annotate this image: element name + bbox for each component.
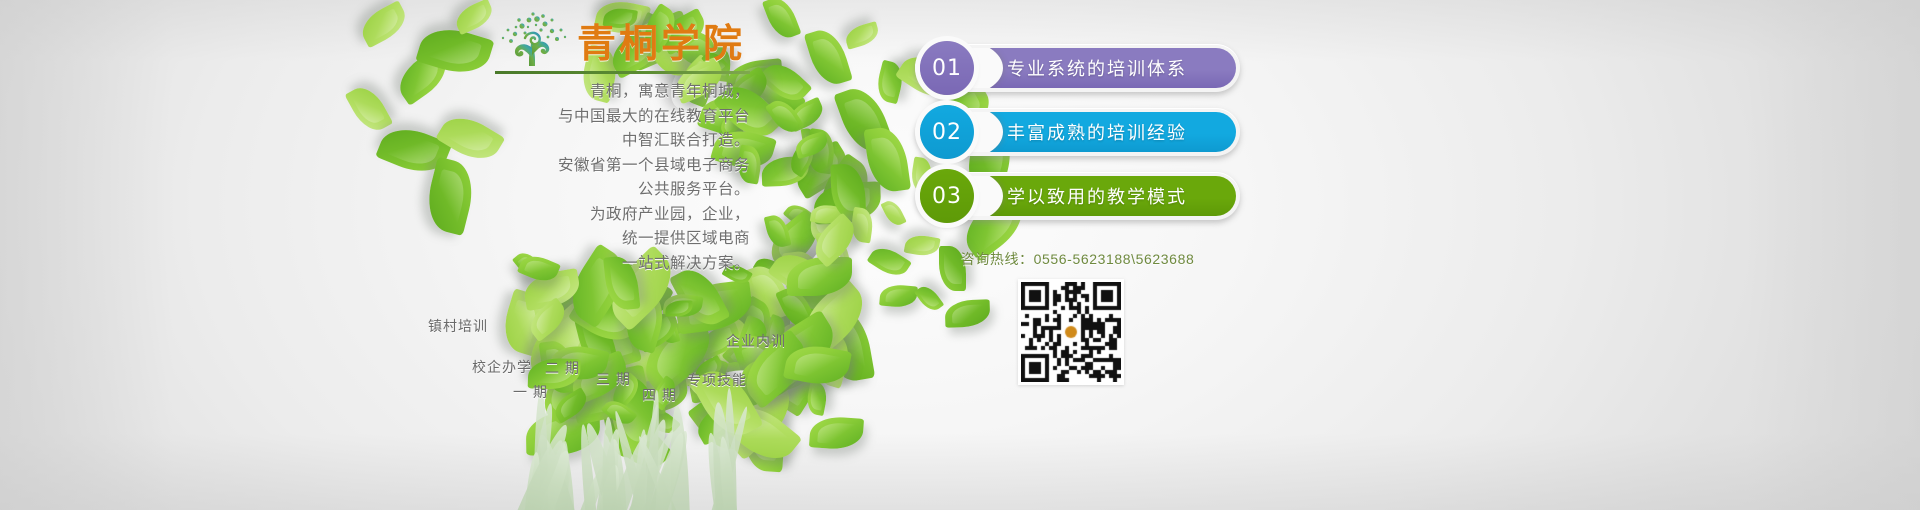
program-tag: 四 期: [642, 385, 677, 405]
description-line: 统一提供区域电商: [430, 227, 750, 252]
description-line: 青桐，寓意青年桐城，: [430, 80, 750, 105]
leaf-icon: [356, 0, 412, 48]
program-tag: 专项技能: [687, 370, 747, 390]
leaf-icon: [843, 21, 881, 50]
description-line: 中智汇联合打造。: [430, 129, 750, 154]
leaf-icon: [804, 25, 853, 89]
program-tag: 校企办学: [472, 357, 532, 377]
description-line: 安徽省第一个县域电子商务: [430, 154, 750, 179]
feature-badge-label: 专业系统的培训体系: [1007, 55, 1187, 81]
feature-badge-label: 丰富成熟的培训经验: [1007, 119, 1187, 145]
brand-description: 青桐，寓意青年桐城，与中国最大的在线教育平台中智汇联合打造。安徽省第一个县域电子…: [430, 80, 750, 276]
leaf-icon: [452, 0, 497, 35]
brand-logo-block: 青桐学院: [495, 6, 750, 74]
feature-badge-03[interactable]: 学以致用的教学模式03: [915, 172, 1240, 220]
description-line: 公共服务平台。: [430, 178, 750, 203]
leaf-icon: [880, 197, 906, 228]
program-tag: 二 期: [545, 358, 580, 378]
feature-badge-number: 02: [920, 105, 974, 159]
leaf-icon: [764, 213, 792, 250]
program-tag: 三 期: [596, 369, 631, 389]
leaf-icon: [945, 299, 991, 328]
feature-badge-number: 03: [920, 169, 974, 223]
leaf-icon: [809, 415, 864, 450]
leaf-icon: [879, 283, 917, 308]
description-line: 为政府产业园，企业，: [430, 203, 750, 228]
leaf-icon: [762, 0, 802, 43]
feature-badge-01[interactable]: 专业系统的培训体系01: [915, 44, 1240, 92]
feature-badge-number: 01: [920, 41, 974, 95]
program-tag: 镇村培训: [428, 316, 488, 336]
leaf-icon: [914, 282, 944, 315]
feature-badge-02[interactable]: 丰富成熟的培训经验02: [915, 108, 1240, 156]
feature-badge-list: 专业系统的培训体系01丰富成熟的培训经验02学以致用的教学模式03: [915, 44, 1240, 236]
tree-icon: [495, 8, 569, 68]
feature-badge-label: 学以致用的教学模式: [1007, 183, 1187, 209]
description-line: 一站式解决方案。: [430, 252, 750, 277]
leaf-icon: [345, 82, 393, 137]
program-tag: 一 期: [513, 382, 548, 402]
qr-code[interactable]: [1018, 279, 1124, 385]
hotline-text: 咨询热线：0556-5623188\5623688: [915, 249, 1240, 269]
brand-title: 青桐学院: [577, 25, 745, 68]
description-line: 与中国最大的在线教育平台: [430, 105, 750, 130]
program-tag: 企业内训: [726, 331, 786, 351]
brand-divider: [495, 71, 750, 74]
